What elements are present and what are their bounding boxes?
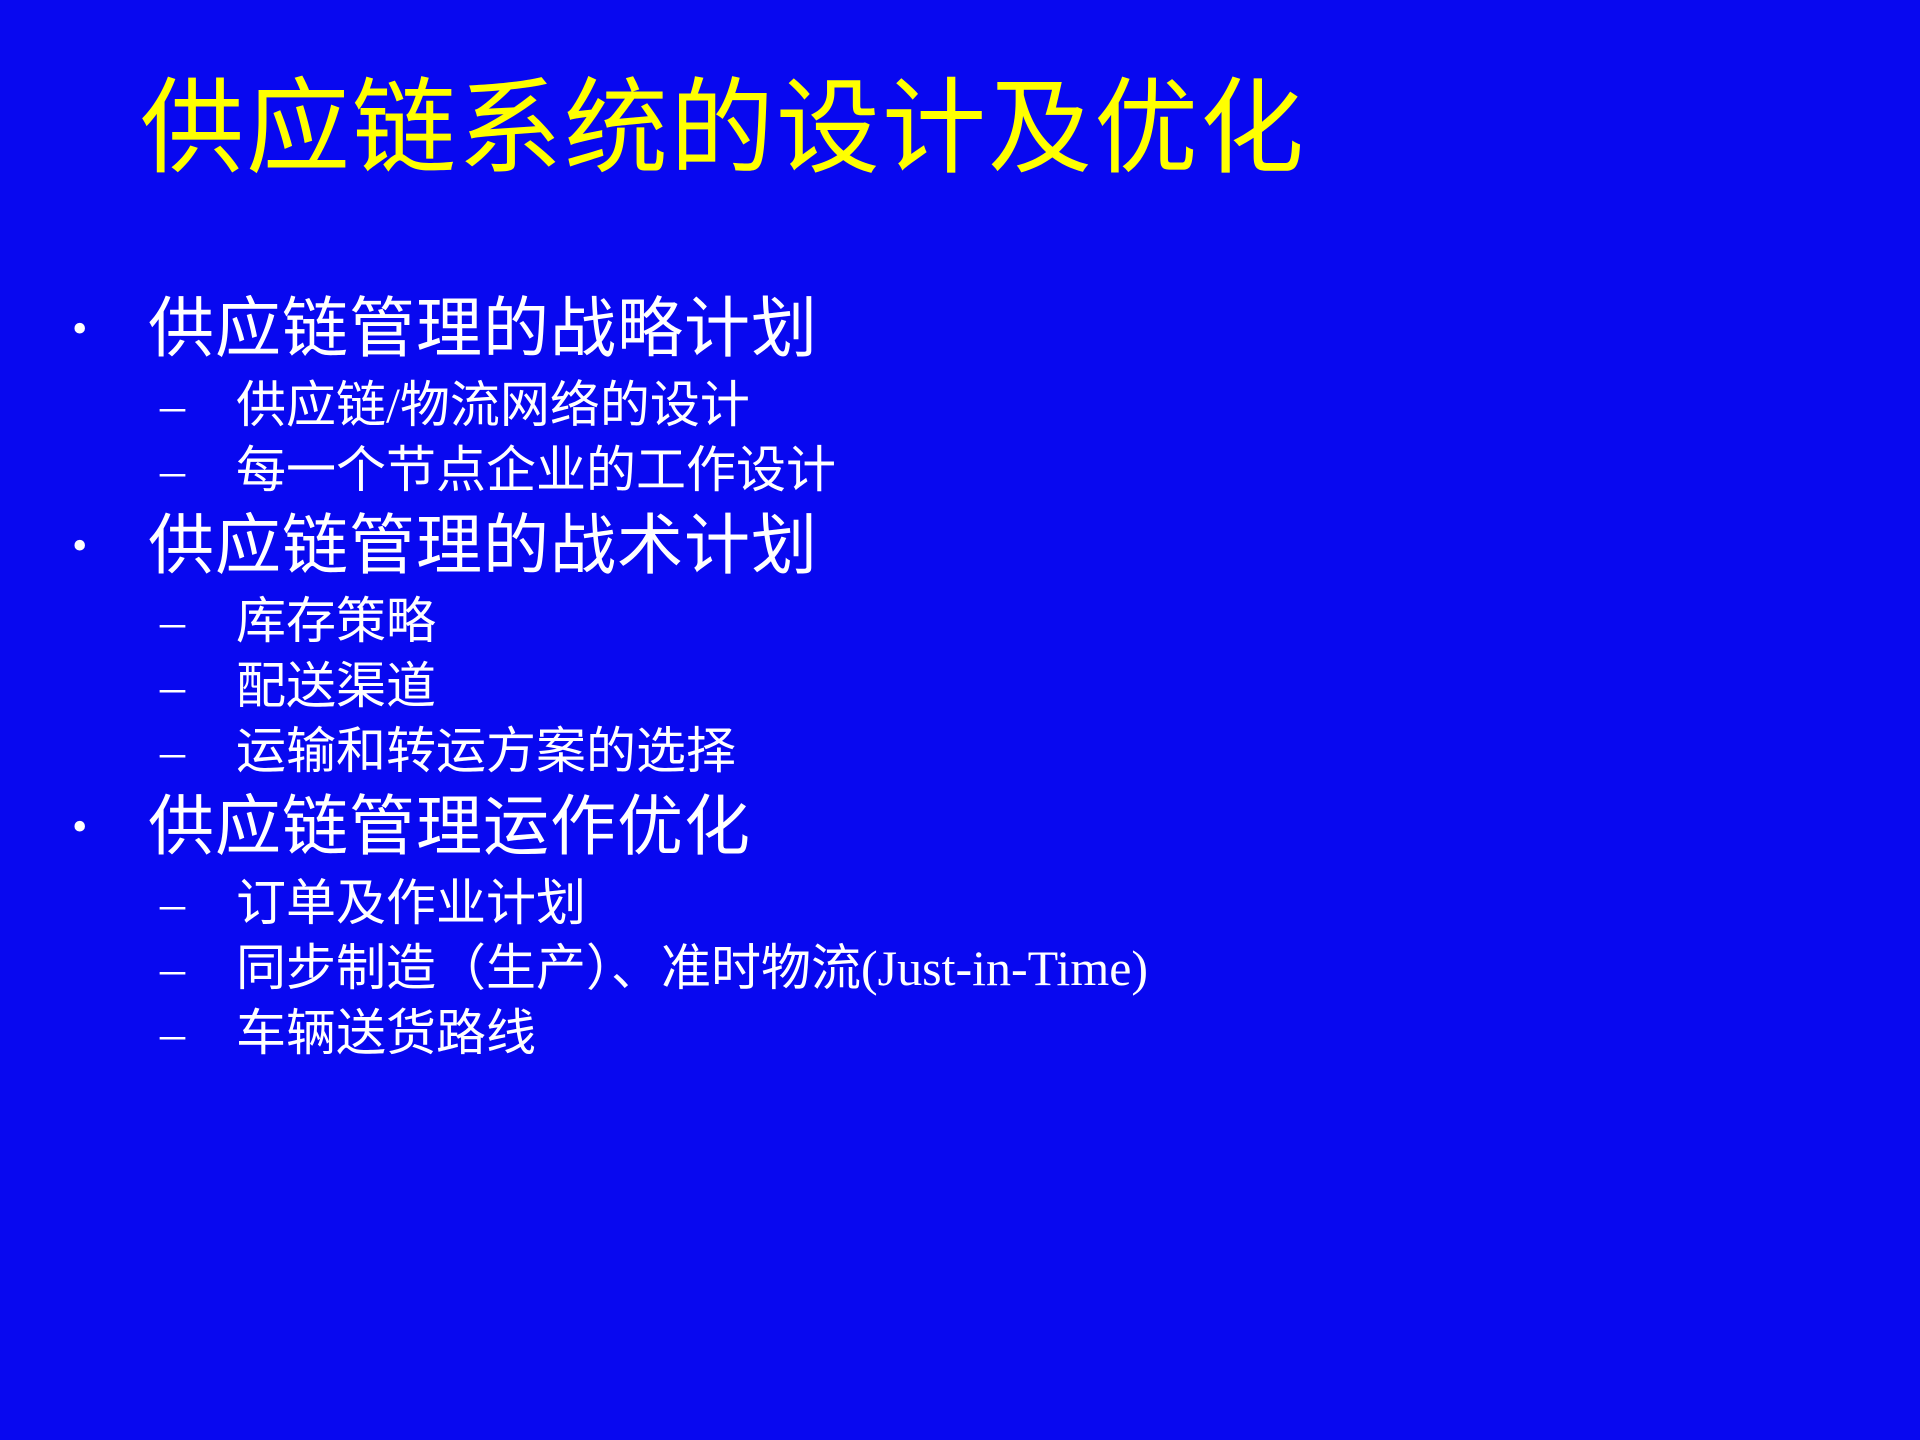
- bullet-level2-label: 同步制造（生产）、准时物流(Just-in-Time): [236, 936, 1148, 1001]
- bullet-level2: – 运输和转运方案的选择: [72, 719, 1892, 784]
- bullet-level2: – 供应链/物流网络的设计: [72, 373, 1892, 438]
- bullet-level1-label: 供应链管理的战术计划: [148, 509, 818, 586]
- bullet-dash-icon: –: [160, 438, 236, 503]
- bullet-level2-label: 配送渠道: [236, 654, 436, 719]
- bullet-level1: • 供应链管理的战略计划: [72, 292, 1892, 369]
- bullet-dash-icon: –: [160, 871, 236, 936]
- bullet-level1: • 供应链管理的战术计划: [72, 509, 1892, 586]
- bullet-level2: – 库存策略: [72, 589, 1892, 654]
- bullet-level2: – 订单及作业计划: [72, 871, 1892, 936]
- bullet-level1-label: 供应链管理的战略计划: [148, 292, 818, 369]
- bullet-dash-icon: –: [160, 1001, 236, 1066]
- bullet-dash-icon: –: [160, 589, 236, 654]
- bullet-level2-label: 车辆送货路线: [236, 1001, 536, 1066]
- bullet-level2: – 每一个节点企业的工作设计: [72, 438, 1892, 503]
- outline-group: • 供应链管理的战略计划 – 供应链/物流网络的设计 – 每一个节点企业的工作设…: [72, 292, 1892, 503]
- bullet-level2-label: 订单及作业计划: [236, 871, 586, 936]
- bullet-dot-icon: •: [72, 509, 148, 584]
- bullet-level2-label: 库存策略: [236, 589, 436, 654]
- presentation-slide: 供应链系统的设计及优化 • 供应链管理的战略计划 – 供应链/物流网络的设计 –…: [0, 0, 1920, 1440]
- outline-group: • 供应链管理的战术计划 – 库存策略 – 配送渠道 – 运输和转运方案的选择: [72, 509, 1892, 785]
- bullet-level2-label: 每一个节点企业的工作设计: [236, 438, 836, 503]
- bullet-dot-icon: •: [72, 292, 148, 367]
- bullet-level2-label: 运输和转运方案的选择: [236, 719, 736, 784]
- bullet-level2-label: 供应链/物流网络的设计: [236, 373, 750, 438]
- bullet-dash-icon: –: [160, 936, 236, 1001]
- bullet-level1: • 供应链管理运作优化: [72, 790, 1892, 867]
- bullet-dash-icon: –: [160, 654, 236, 719]
- bullet-level2: – 车辆送货路线: [72, 1001, 1892, 1066]
- bullet-dash-icon: –: [160, 719, 236, 784]
- outline-group: • 供应链管理运作优化 – 订单及作业计划 – 同步制造（生产）、准时物流(Ju…: [72, 790, 1892, 1066]
- bullet-level2: – 配送渠道: [72, 654, 1892, 719]
- bullet-dash-icon: –: [160, 373, 236, 438]
- bullet-level1-label: 供应链管理运作优化: [148, 790, 751, 867]
- slide-body-outline: • 供应链管理的战略计划 – 供应链/物流网络的设计 – 每一个节点企业的工作设…: [72, 292, 1892, 1066]
- bullet-dot-icon: •: [72, 790, 148, 865]
- slide-title: 供应链系统的设计及优化: [140, 72, 1840, 188]
- bullet-level2: – 同步制造（生产）、准时物流(Just-in-Time): [72, 936, 1892, 1001]
